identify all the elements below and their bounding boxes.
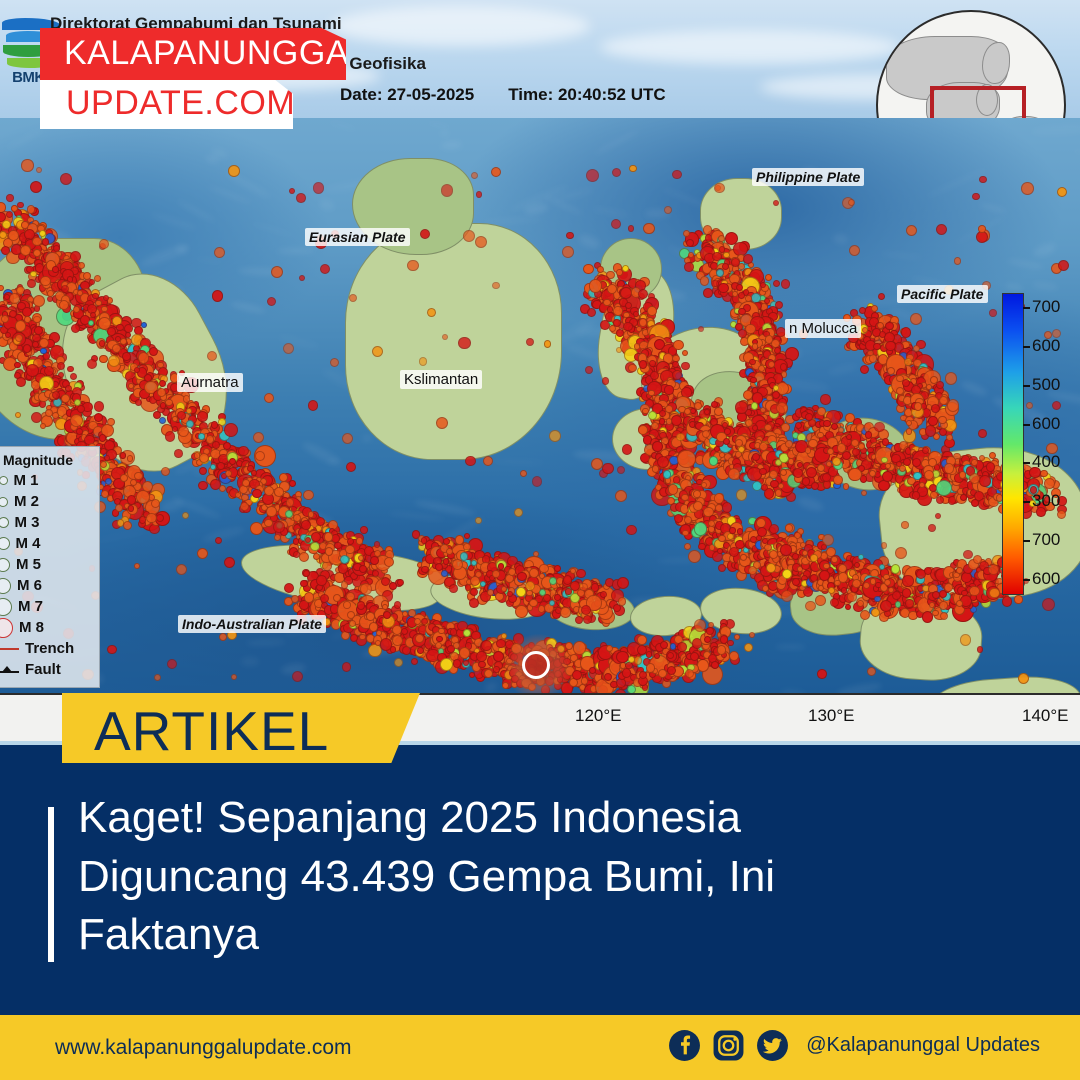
earthquake-dot — [157, 388, 166, 397]
earthquake-dot — [199, 453, 209, 463]
earthquake-dot — [99, 355, 108, 364]
earthquake-dot — [199, 467, 207, 475]
earthquake-dot — [370, 556, 379, 565]
earthquake-dot — [729, 651, 739, 661]
earthquake-dot — [773, 280, 780, 287]
earthquake-dot — [308, 511, 314, 517]
earthquake-dot — [865, 431, 873, 439]
cloud-decoration — [600, 30, 900, 64]
earthquake-dot — [325, 547, 333, 555]
earthquake-dot — [198, 433, 204, 439]
earthquake-dot — [649, 360, 656, 367]
earthquake-dot — [869, 470, 876, 477]
earthquake-dot — [174, 449, 183, 458]
earthquake-dot — [919, 482, 925, 488]
earthquake-dot — [637, 645, 647, 655]
earthquake-dot — [899, 465, 906, 472]
earthquake-dot — [415, 634, 424, 643]
earthquake-dot — [141, 322, 148, 329]
earthquake-dot — [496, 639, 505, 648]
earthquake-dot — [264, 519, 273, 528]
earthquake-dot — [638, 289, 648, 299]
earthquake-dot — [116, 324, 123, 331]
earthquake-dot — [623, 322, 632, 331]
earthquake-dot — [971, 459, 978, 466]
earthquake-dot-layer — [0, 118, 1080, 693]
earthquake-dot — [264, 486, 274, 496]
earthquake-dot — [59, 300, 69, 310]
earthquake-dot — [681, 362, 689, 370]
earthquake-dot — [650, 371, 659, 380]
earthquake-dot — [251, 470, 257, 476]
earthquake-dot — [703, 225, 712, 234]
earthquake-dot — [613, 306, 622, 315]
earthquake-dot — [660, 641, 668, 649]
earthquake-dot — [289, 480, 296, 487]
earthquake-dot — [392, 635, 403, 646]
earthquake-dot — [665, 405, 673, 413]
earthquake-dot — [583, 264, 593, 274]
earthquake-dot — [677, 642, 686, 651]
earthquake-dot — [718, 235, 725, 242]
earthquake-dot — [383, 611, 391, 619]
earthquake-dot — [334, 542, 342, 550]
earthquake-dot — [731, 258, 740, 267]
earthquake-dot — [343, 601, 350, 608]
earthquake-dot — [311, 532, 321, 542]
earthquake-dot — [743, 254, 753, 264]
earthquake-dot — [936, 480, 952, 496]
earthquake-dot — [718, 283, 728, 293]
earthquake-dot — [357, 601, 366, 610]
earthquake-dot — [324, 532, 334, 542]
earthquake-dot — [924, 470, 934, 480]
earthquake-dot — [358, 555, 364, 561]
earthquake-dot — [647, 306, 657, 316]
earthquake-dot — [720, 635, 728, 643]
earthquake-dot — [750, 377, 756, 383]
earthquake-dot — [120, 338, 127, 345]
earthquake-dot — [95, 300, 101, 306]
earthquake-dot — [435, 642, 442, 649]
earthquake-dot — [722, 502, 732, 512]
globe-extent-box — [930, 86, 1026, 118]
cloud-decoration — [330, 6, 590, 46]
earthquake-dot — [384, 557, 394, 567]
earthquake-dot — [493, 666, 499, 672]
earthquake-dot — [340, 555, 349, 564]
map-date: Date: 27-05-2025 — [340, 85, 474, 104]
earthquake-dot — [52, 266, 59, 273]
earthquake-dot — [463, 660, 469, 666]
earthquake-dot — [589, 667, 596, 674]
earthquake-dot — [792, 578, 800, 586]
earthquake-dot — [107, 327, 116, 336]
earthquake-dot — [587, 308, 596, 317]
earthquake-dot — [805, 413, 813, 421]
earthquake-dot — [481, 640, 492, 651]
earthquake-dot — [285, 510, 293, 518]
earthquake-dot — [27, 205, 36, 214]
earthquake-dot — [345, 545, 355, 555]
earthquake-dot — [197, 411, 208, 422]
earthquake-dot — [252, 489, 261, 498]
earthquake-dot — [749, 359, 756, 366]
earthquake-dot — [463, 629, 471, 637]
earthquake-dot — [703, 288, 713, 298]
earthquake-dot — [638, 425, 648, 435]
earthquake-dot — [347, 611, 355, 619]
earthquake-dot — [436, 636, 443, 643]
poster: BMKG Direktorat Gempabumi dan Tsunami Ba… — [0, 0, 1080, 1080]
earthquake-dot — [607, 306, 614, 313]
earthquake-dot — [622, 668, 631, 677]
earthquake-dot — [284, 583, 295, 594]
earthquake-dot — [738, 292, 745, 299]
earthquake-dot — [301, 520, 311, 530]
earthquake-dot — [704, 636, 711, 643]
earthquake-dot — [831, 423, 838, 430]
earthquake-dot — [476, 651, 487, 662]
earthquake-dot — [128, 383, 134, 389]
earthquake-dot — [701, 482, 707, 488]
earthquake-dot — [238, 446, 249, 457]
earthquake-dot — [700, 276, 710, 286]
earthquake-dot — [673, 340, 683, 350]
earthquake-dot — [637, 635, 647, 645]
earthquake-dot — [682, 350, 688, 356]
earthquake-dot — [652, 441, 663, 452]
earthquake-dot — [78, 262, 85, 269]
globe-inset — [876, 10, 1066, 118]
earthquake-dot — [77, 290, 83, 296]
earthquake-dot — [628, 364, 636, 372]
earthquake-dot — [648, 411, 657, 420]
earthquake-dot — [717, 645, 726, 654]
map-screenshot: BMKG Direktorat Gempabumi dan Tsunami Ba… — [0, 0, 1080, 745]
earthquake-dot — [417, 647, 424, 654]
map-canvas[interactable]: Eurasian Plate Philippine Plate Pacific … — [0, 118, 1080, 693]
earthquake-dot — [6, 194, 14, 202]
earthquake-dot — [751, 402, 758, 409]
earthquake-dot — [729, 527, 735, 533]
earthquake-dot — [684, 543, 691, 550]
earthquake-dot — [366, 612, 374, 620]
earthquake-dot — [646, 651, 652, 657]
earthquake-dot — [159, 380, 166, 387]
earthquake-dot — [693, 501, 703, 511]
earthquake-dot — [303, 490, 314, 501]
earthquake-dot — [165, 431, 175, 441]
map-datetime: Date: 27-05-2025Time: 20:40:52 UTC — [340, 85, 666, 105]
earthquake-dot — [394, 601, 402, 609]
earthquake-dot — [293, 538, 300, 545]
earthquake-dot — [867, 447, 873, 453]
earthquake-dot — [765, 274, 772, 281]
earthquake-dot — [727, 640, 733, 646]
earthquake-dot — [820, 394, 830, 404]
earthquake-dot — [589, 279, 603, 293]
earthquake-dot — [484, 669, 493, 678]
earthquake-dot — [198, 481, 208, 491]
earthquake-dot — [341, 581, 349, 589]
earthquake-dot — [648, 390, 654, 396]
earthquake-dot — [683, 230, 690, 237]
earthquake-dot — [6, 211, 13, 218]
earthquake-dot — [581, 677, 589, 685]
earthquake-dot — [8, 230, 18, 240]
earthquake-dot — [711, 661, 719, 669]
earthquake-dot — [722, 263, 729, 270]
earthquake-dot — [668, 484, 679, 495]
earthquake-dot — [718, 564, 726, 572]
earthquake-dot — [698, 543, 706, 551]
earthquake-dot — [83, 272, 91, 280]
earthquake-dot — [658, 669, 667, 678]
earthquake-dot — [47, 290, 54, 297]
earthquake-dot — [736, 284, 743, 291]
earthquake-dot — [666, 418, 672, 424]
earthquake-dot — [94, 275, 101, 282]
earthquake-dot — [125, 332, 131, 338]
earthquake-dot — [101, 306, 108, 313]
earthquake-dot — [316, 575, 327, 586]
earthquake-dot — [817, 432, 824, 439]
earthquake-dot — [157, 362, 163, 368]
earthquake-dot — [389, 582, 397, 590]
earthquake-dot — [349, 620, 356, 627]
earthquake-dot — [99, 340, 106, 347]
map-time: Time: 20:40:52 UTC — [508, 85, 665, 104]
earthquake-dot — [438, 628, 445, 635]
earthquake-dot — [266, 506, 277, 517]
earthquake-dot — [740, 554, 747, 561]
earthquake-dot — [688, 252, 694, 258]
earthquake-dot — [411, 658, 418, 665]
earthquake-dot — [922, 447, 929, 454]
earthquake-dot — [453, 642, 460, 649]
earthquake-dot — [738, 329, 747, 338]
earthquake-dot — [734, 634, 740, 640]
earthquake-dot — [299, 552, 310, 563]
earthquake-dot — [633, 311, 639, 317]
earthquake-dot — [338, 563, 349, 574]
earthquake-dot — [211, 421, 219, 429]
earthquake-dot — [402, 611, 408, 617]
earthquake-dot — [303, 570, 310, 577]
earthquake-dot — [225, 470, 232, 477]
earthquake-dot — [224, 423, 238, 437]
earthquake-dot — [780, 363, 787, 370]
earthquake-dot — [360, 526, 367, 533]
earthquake-dot — [775, 489, 782, 496]
earthquake-dot — [781, 423, 789, 431]
earthquake-dot — [149, 347, 158, 356]
earthquake-dot — [684, 262, 694, 272]
earthquake-dot — [670, 643, 676, 649]
earthquake-dot — [42, 238, 49, 245]
earthquake-dot — [752, 343, 758, 349]
earthquake-dot — [795, 422, 802, 429]
earthquake-dot — [122, 352, 131, 361]
earthquake-dot — [32, 237, 41, 246]
earthquake-dot — [597, 266, 604, 273]
earthquake-dot — [165, 399, 173, 407]
earthquake-dot — [397, 579, 404, 586]
earthquake-dot — [359, 634, 366, 641]
